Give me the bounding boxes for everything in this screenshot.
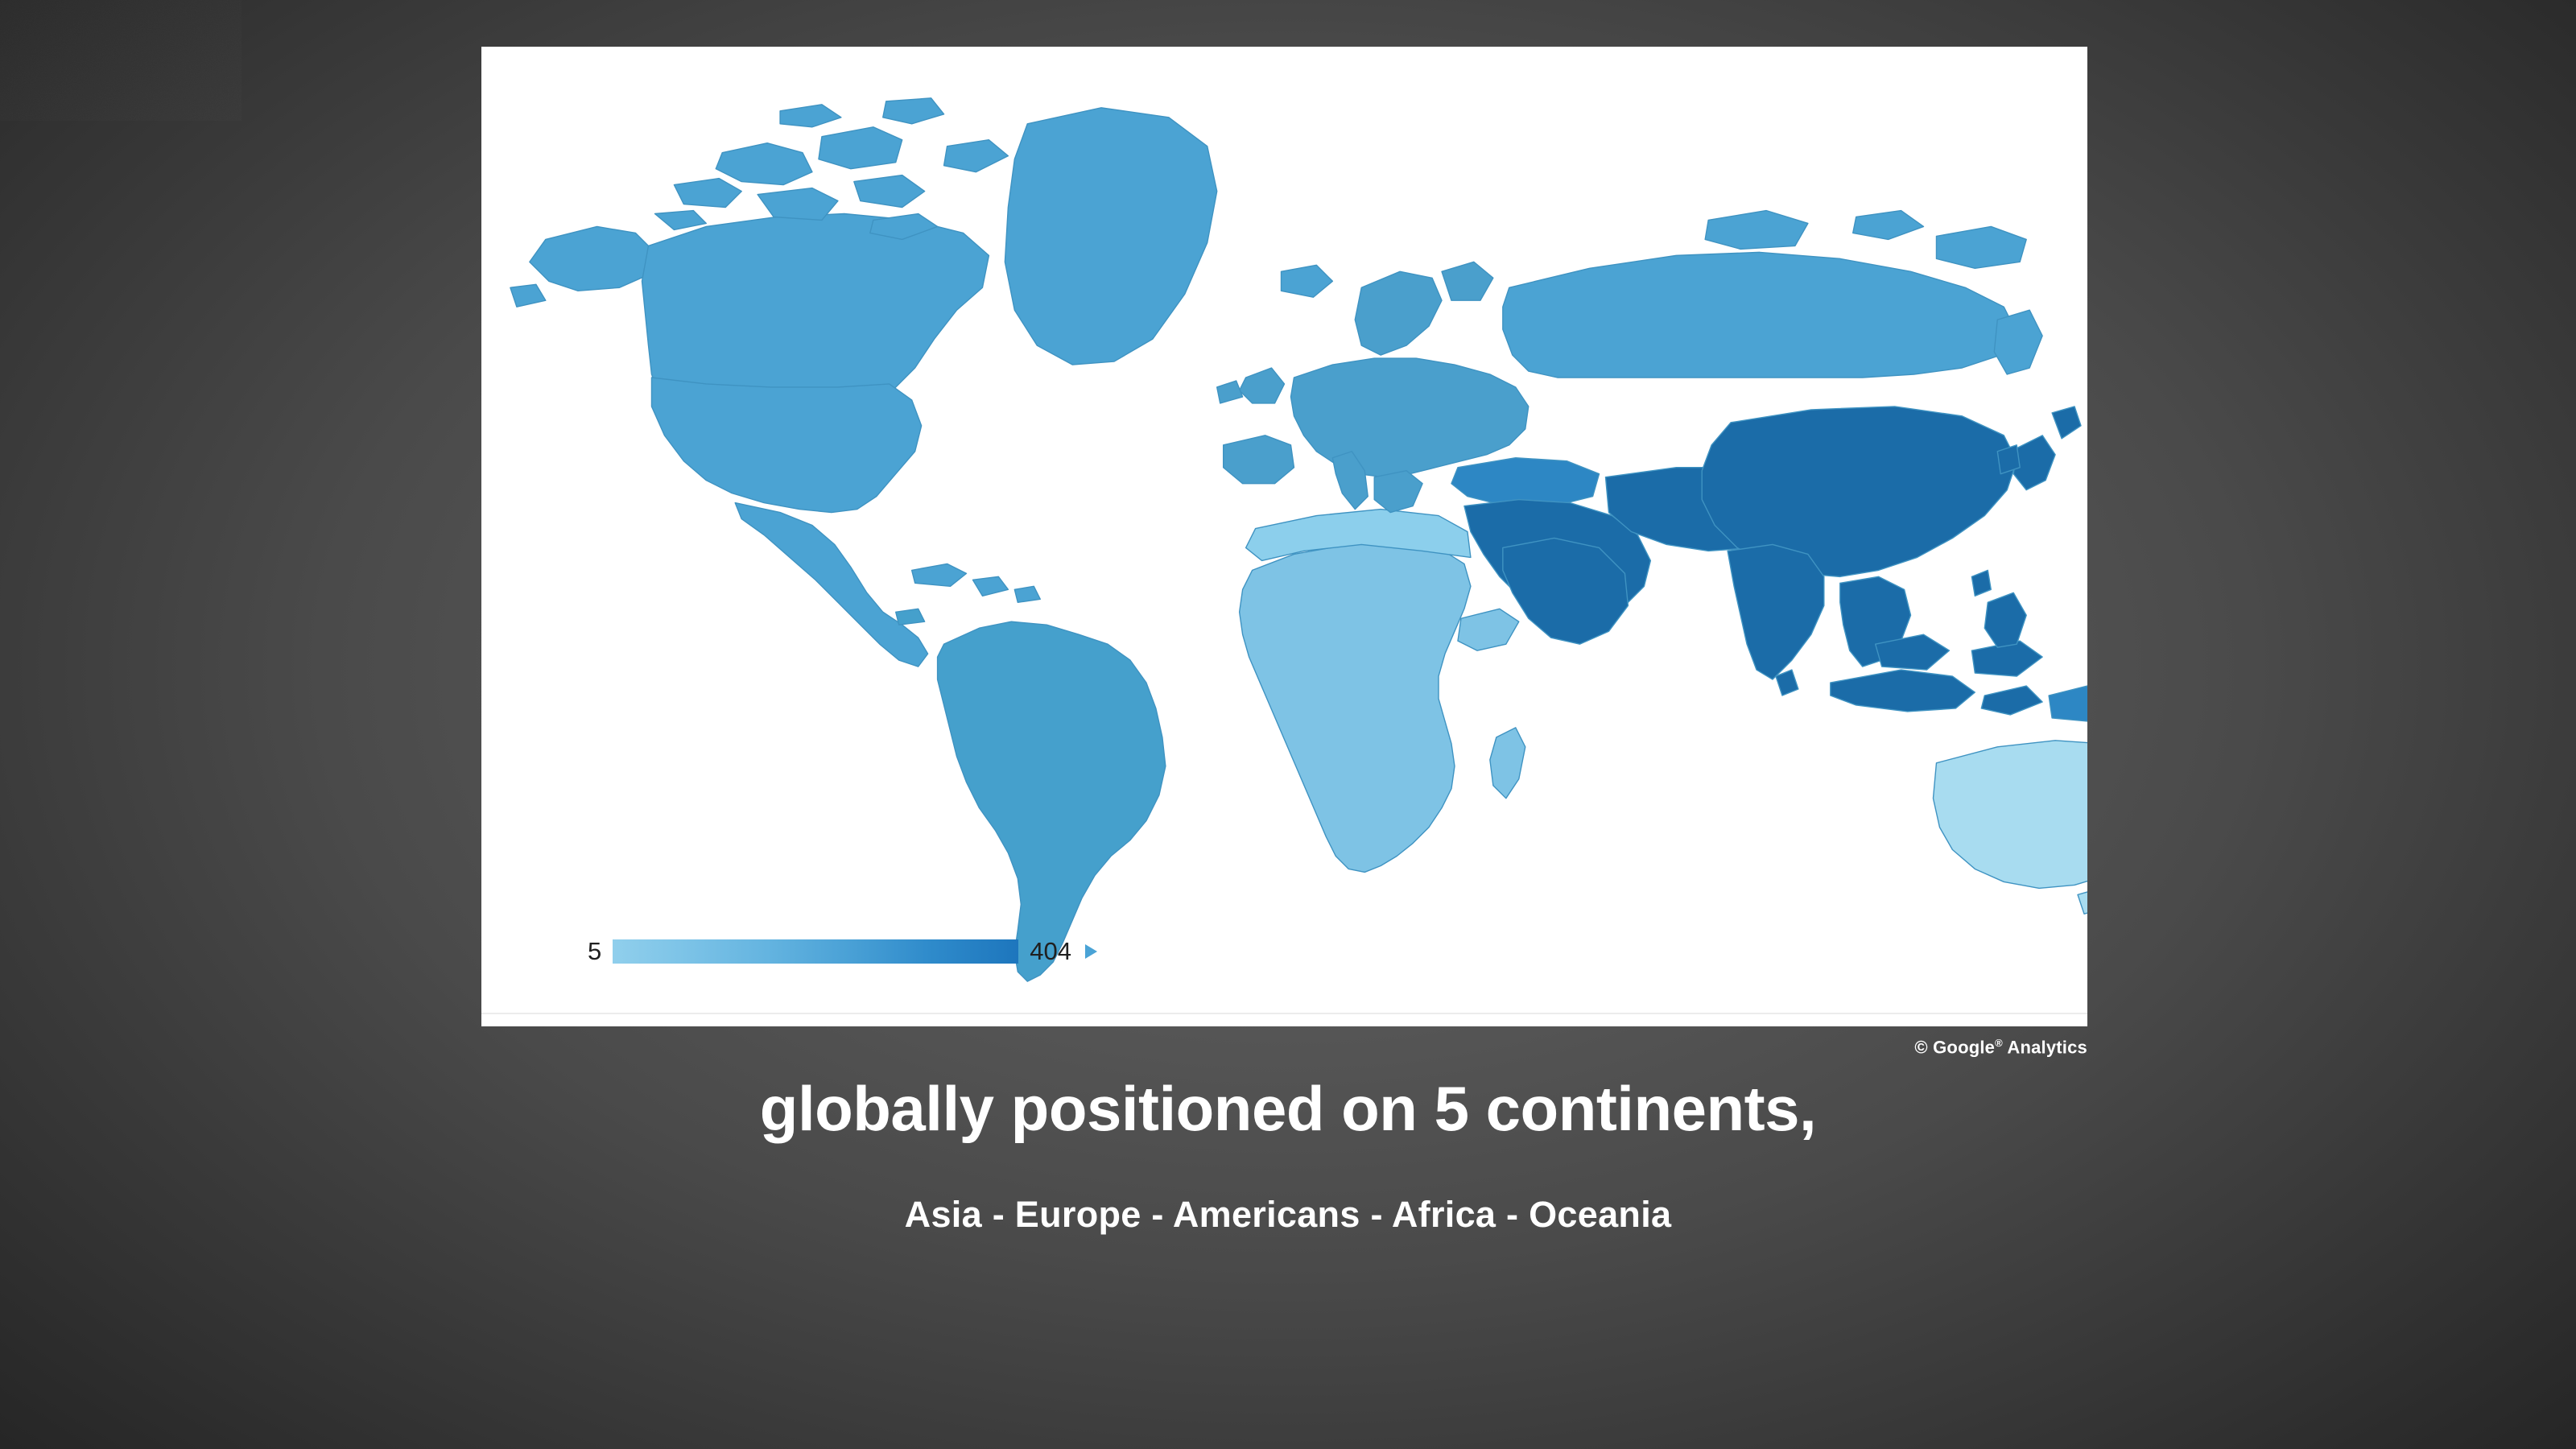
- slide-subtitle: Asia - Europe - Americans - Africa - Oce…: [0, 1194, 2576, 1236]
- region-africa[interactable]: [1240, 541, 1525, 872]
- legend-max-label: 404: [1030, 939, 1071, 964]
- legend-arrow-icon: [1085, 944, 1097, 959]
- legend-min-label: 5: [588, 939, 601, 964]
- world-map-choropleth[interactable]: [481, 47, 2087, 1026]
- region-oceania[interactable]: [1933, 689, 2087, 914]
- google-analytics-credit: © Google® Analytics: [1912, 1037, 2087, 1058]
- world-map-svg: [481, 47, 2087, 1026]
- map-color-scale-legend: 5 404: [588, 939, 1097, 964]
- google-analytics-credit-suffix: Analytics: [2003, 1037, 2087, 1057]
- card-bottom-rule: [481, 1013, 2087, 1014]
- background-noise-texture: [0, 0, 242, 121]
- region-russia[interactable]: [1503, 211, 2042, 378]
- caption-block: globally positioned on 5 continents, Asi…: [0, 1075, 2576, 1236]
- region-asia[interactable]: [1451, 407, 2081, 715]
- region-papua-new-guinea[interactable]: [2049, 686, 2087, 721]
- region-north-america[interactable]: [510, 98, 1332, 667]
- map-card: 5 404: [481, 47, 2087, 1026]
- slide-title: globally positioned on 5 continents,: [0, 1075, 2576, 1144]
- presentation-slide: 5 404 © Google® Analytics globally posit…: [0, 0, 2576, 1449]
- google-analytics-credit-text: © Google: [1914, 1037, 1995, 1057]
- region-south-america[interactable]: [896, 609, 1166, 981]
- legend-gradient-bar[interactable]: [613, 939, 1018, 964]
- registered-mark-icon: ®: [1995, 1037, 2003, 1049]
